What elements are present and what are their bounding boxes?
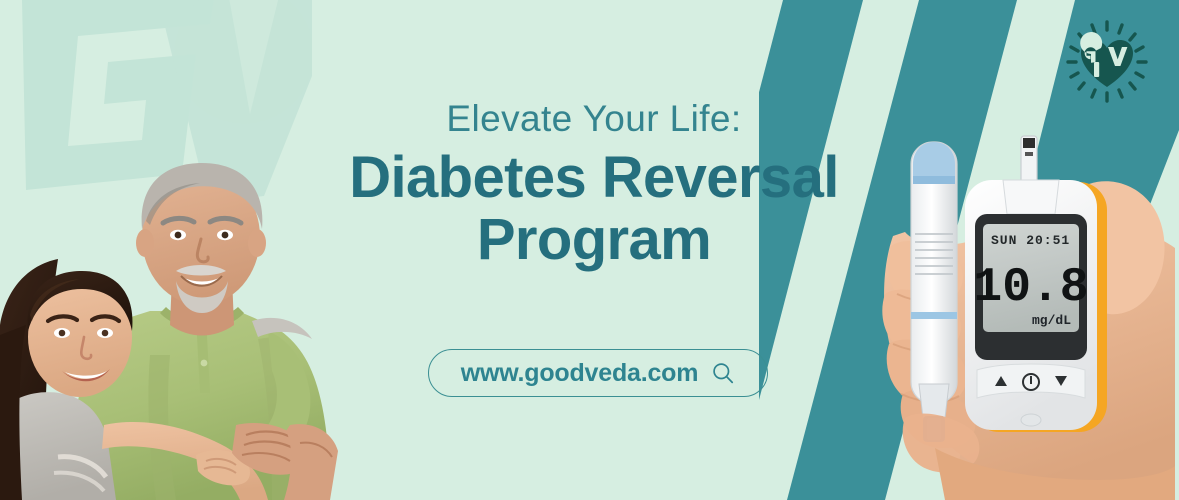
hand-holding-glucometer-photo: SUN 20:51 10.8 mg/dL	[875, 118, 1175, 500]
website-url-label: www.goodveda.com	[461, 359, 699, 388]
glucometer-status-line: SUN 20:51	[991, 233, 1070, 248]
website-cta-button[interactable]: www.goodveda.com	[428, 349, 768, 397]
glucometer-unit: mg/dL	[1032, 313, 1071, 328]
couple-embracing-photo	[0, 125, 392, 500]
promo-banner: Elevate Your Life: Diabetes Reversal Pro…	[0, 0, 1179, 500]
headline-line-1: Diabetes Reversal	[349, 145, 839, 210]
glucometer-reading: 10.8	[973, 261, 1088, 315]
search-icon[interactable]	[711, 361, 735, 385]
goodveda-logo[interactable]	[1064, 18, 1150, 104]
